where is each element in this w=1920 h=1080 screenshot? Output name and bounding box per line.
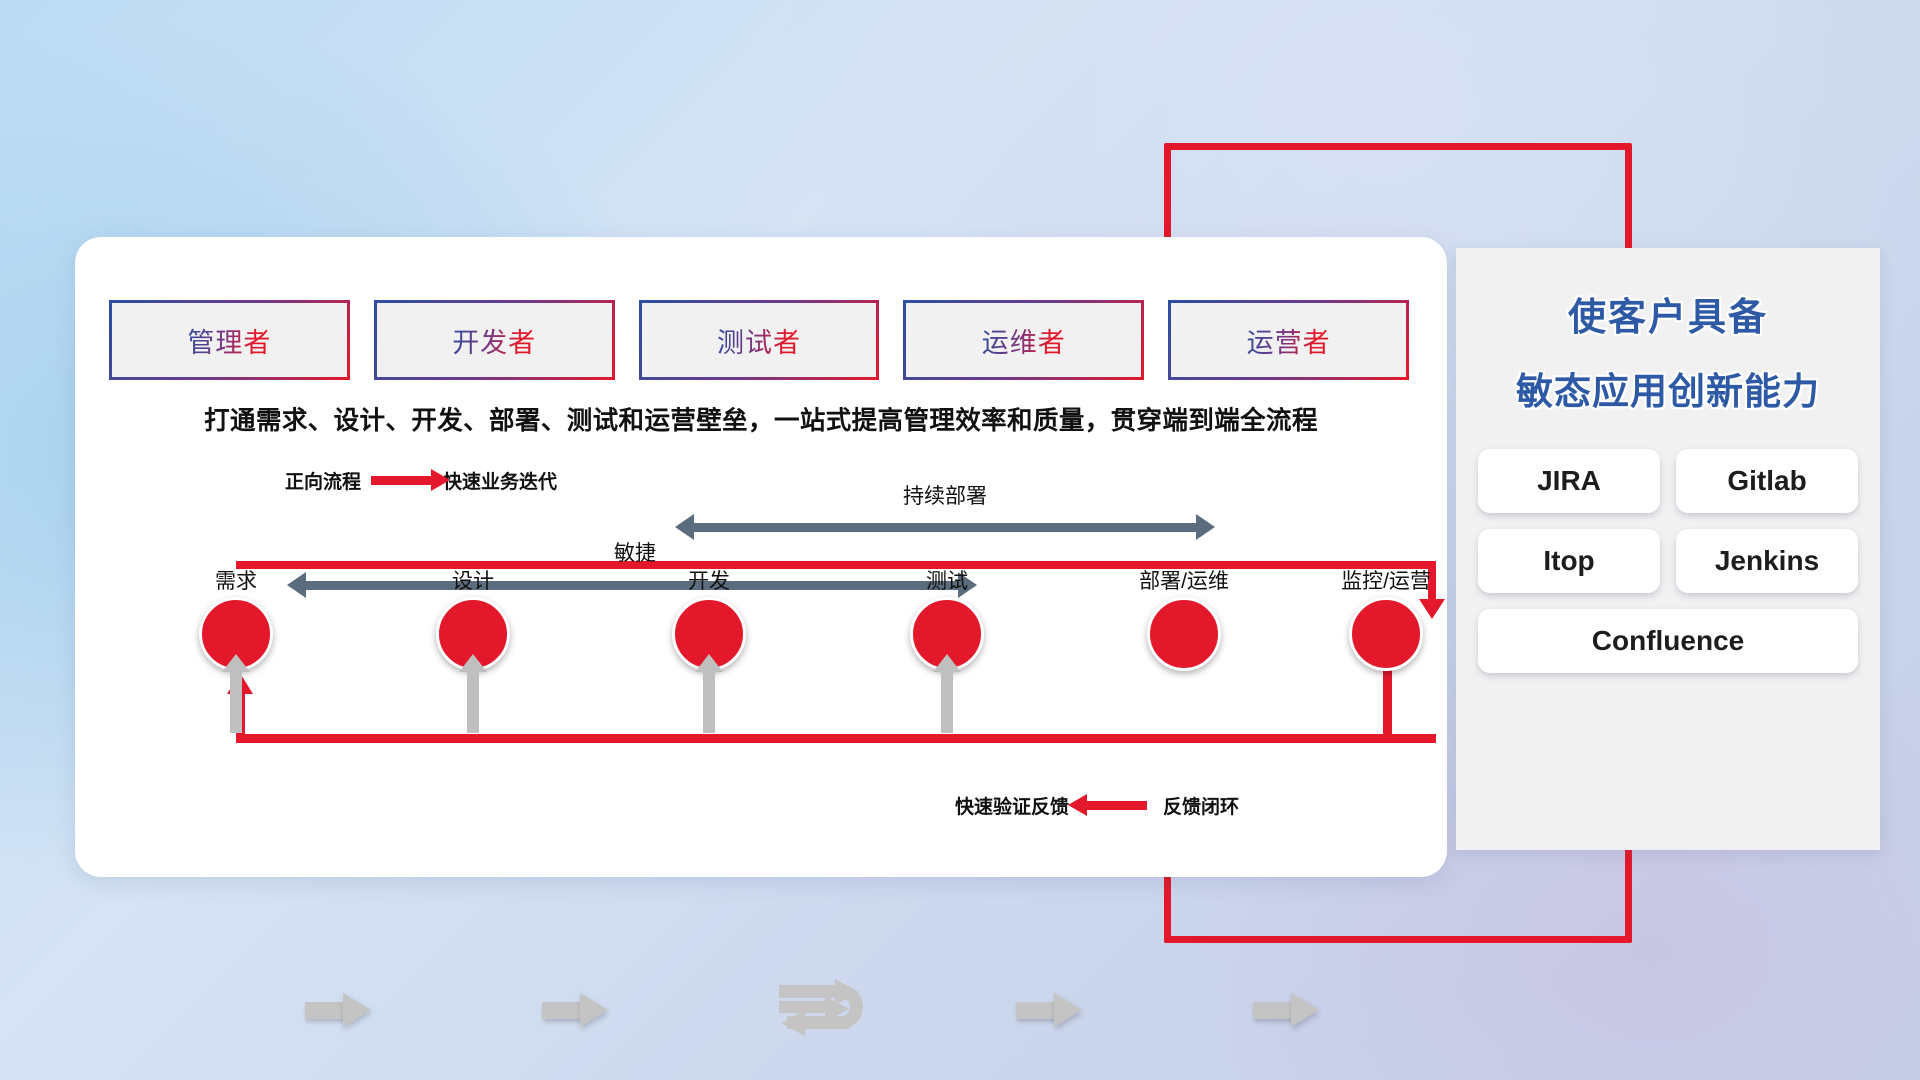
u-turn-loop-icon [775,979,895,1049]
capability-panel: 使客户具备 敏态应用创新能力 JIRA Gitlab Itop Jenkins … [1456,248,1880,850]
role-label: 运营者 [1247,321,1331,360]
pipeline-node-requirements[interactable]: 需求 [199,597,273,671]
role-box-row: 管理者 开发者 测试者 运维者 运营者 [109,300,1409,380]
legend-feedback-from: 快速验证反馈 [955,792,1069,819]
pipeline-node-label: 设计 [452,565,494,595]
pipeline: 需求 设计 开发 [75,597,1447,757]
legend-forward-to: 快速业务迭代 [443,467,557,494]
feedback-loop-top-line [236,561,1436,569]
arrow-bar [303,581,961,590]
card-headline: 打通需求、设计、开发、部署、测试和运营壁垒，一站式提高管理效率和质量，贯穿端到端… [75,400,1447,437]
pipeline-node-monitor-operate[interactable]: 监控/运营 [1349,597,1423,671]
chevron-right-icon-3 [1016,993,1082,1027]
devops-flow-card: 管理者 开发者 测试者 运维者 运营者 打通需求、设计、开发、部署、测试和运营壁… [75,237,1447,877]
slide-canvas: 管理者 开发者 测试者 运维者 运营者 打通需求、设计、开发、部署、测试和运营壁… [0,0,1920,1080]
tool-chip-jira[interactable]: JIRA [1478,449,1660,513]
arrow-left-icon [1085,801,1147,810]
tool-chip-itop[interactable]: Itop [1478,529,1660,593]
pipeline-node-stem [703,671,715,733]
role-label: 开发者 [452,321,536,360]
panel-title-line2: 敏态应用创新能力 [1456,361,1880,415]
chevron-head [343,993,371,1027]
legend-forward-flow: 正向流程 快速业务迭代 [285,467,557,494]
double-arrow-icon-agile [287,572,977,598]
pipeline-node-deploy-ops[interactable]: 部署/运维 [1147,597,1221,671]
chevron-bar [1253,1002,1295,1019]
tool-chip-gitlab[interactable]: Gitlab [1676,449,1858,513]
pipeline-node-label: 开发 [688,565,730,595]
panel-title-line1: 使客户具备 [1456,286,1880,341]
role-box-manager[interactable]: 管理者 [109,300,350,380]
role-label: 测试者 [717,321,801,360]
role-box-developer[interactable]: 开发者 [374,300,615,380]
chevron-right-icon-1 [305,993,371,1027]
pipeline-node-label: 需求 [215,565,257,595]
pipeline-node-design[interactable]: 设计 [436,597,510,671]
span-label-agile: 敏捷 [614,537,656,567]
double-arrow-icon-continuous-deployment [675,514,1215,540]
pipeline-node-stem [230,671,242,733]
pipeline-node-testing[interactable]: 测试 [910,597,984,671]
chevron-bar [1016,1002,1058,1019]
pipeline-node-dot [1349,597,1423,671]
role-box-operator[interactable]: 运营者 [1168,300,1409,380]
pipeline-node-dot [1147,597,1221,671]
legend-forward-from: 正向流程 [285,467,361,494]
legend-feedback-to: 反馈闭环 [1163,792,1239,819]
span-label-continuous-deployment: 持续部署 [903,480,987,510]
pipeline-node-development[interactable]: 开发 [672,597,746,671]
chevron-head [580,993,608,1027]
pipeline-node-label: 部署/运维 [1139,565,1229,595]
tool-chip-confluence[interactable]: Confluence [1478,609,1858,673]
chevron-right-icon-4 [1253,993,1319,1027]
chevron-bar [542,1002,584,1019]
role-label: 运维者 [982,321,1066,360]
role-box-tester[interactable]: 测试者 [639,300,880,380]
pipeline-node-stem [941,671,953,733]
chevron-head [1291,993,1319,1027]
arrow-right-icon [371,476,433,485]
tool-list: JIRA Gitlab Itop Jenkins Confluence [1478,449,1858,673]
pipeline-node-stem [467,671,479,733]
pipeline-node-label: 监控/运营 [1341,565,1431,595]
legend-feedback-loop: 快速验证反馈 反馈闭环 [955,792,1239,819]
chevron-bar [305,1002,347,1019]
role-box-ops[interactable]: 运维者 [903,300,1144,380]
role-label: 管理者 [187,321,271,360]
pipeline-node-label: 测试 [926,565,968,595]
arrow-bar [691,523,1199,532]
arrow-head-right [1196,514,1215,540]
chevron-right-icon-2 [542,993,608,1027]
tool-chip-jenkins[interactable]: Jenkins [1676,529,1858,593]
chevron-head [1054,993,1082,1027]
